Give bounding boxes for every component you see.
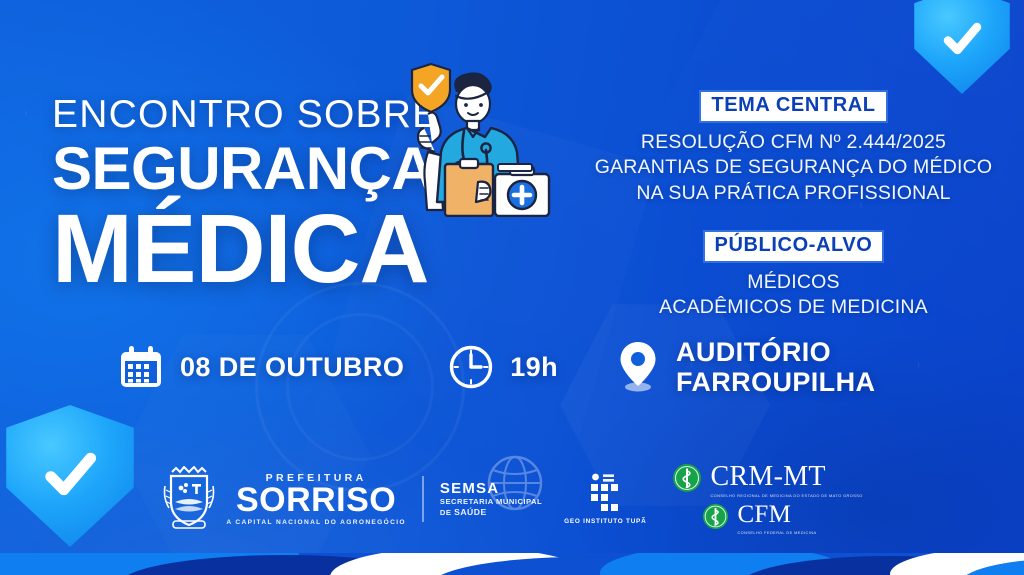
calendar-icon (118, 344, 164, 390)
theme-block: TEMA CENTRAL RESOLUÇÃO CFM Nº 2.444/2025… (591, 92, 996, 206)
event-date-label: 08 DE OUTUBRO (180, 352, 404, 382)
event-venue: AUDITÓRIO FARROUPILHA (616, 337, 875, 397)
crm-mt-name: CRM-MT (710, 463, 862, 490)
doctor-illustration (398, 52, 563, 217)
event-date: 08 DE OUTUBRO (118, 344, 404, 390)
orange-shield-icon (412, 64, 450, 112)
info-column: TEMA CENTRAL RESOLUÇÃO CFM Nº 2.444/2025… (591, 92, 996, 321)
audience-line: MÉDICOS (591, 270, 996, 296)
theme-line: GARANTIAS DE SEGURANÇA DO MÉDICO (591, 155, 996, 181)
cfm-subtitle: CONSELHO FEDERAL DE MEDICINA (737, 530, 816, 535)
headline-line-1: ENCONTRO SOBRE (52, 95, 439, 134)
tupa-caption: GEO INSTITUTO TUPÃ (564, 518, 646, 525)
audience-block: PÚBLICO-ALVO MÉDICOS ACADÊMICOS DE MEDIC… (591, 232, 996, 321)
audience-line: ACADÊMICOS DE MEDICINA (591, 295, 996, 321)
asclepius-staff-icon (672, 463, 702, 498)
logo-councils: CRM-MT CONSELHO REGIONAL DE MEDICINA DO … (672, 463, 862, 535)
crm-mt-subtitle: CONSELHO REGIONAL DE MEDICINA DO ESTADO … (710, 493, 862, 498)
location-pin-icon (616, 340, 660, 394)
prefeitura-wordmark: PREFEITURA SORRISO A CAPITAL NACIONAL DO… (226, 472, 406, 526)
event-time-label: 19h (510, 352, 558, 382)
logo-crm-mt: CRM-MT CONSELHO REGIONAL DE MEDICINA DO … (672, 463, 862, 498)
clock-icon (448, 344, 494, 390)
prefeitura-line-1: PREFEITURA (226, 472, 406, 484)
headline-line-2: SEGURANÇA (52, 138, 439, 199)
logo-cfm: CFM CONSELHO FEDERAL DE MEDICINA (702, 503, 862, 535)
event-details-row: 08 DE OUTUBRO 19h (118, 337, 875, 397)
audience-chip: PÚBLICO-ALVO (705, 232, 883, 261)
cfm-name: CFM (737, 503, 816, 528)
pixel-grid-it-icon (585, 473, 625, 515)
headline-line-3: MÉDICA (52, 201, 439, 296)
coat-of-arms-icon (161, 466, 217, 532)
theme-line: NA SUA PRÁTICA PROFISSIONAL (591, 181, 996, 207)
prefeitura-line-3: A CAPITAL NACIONAL DO AGRONEGÓCIO (226, 519, 406, 526)
shield-check-icon-top-right (914, 0, 1010, 94)
semsa-line-2: SECRETARIA MUNICIPAL (440, 498, 542, 507)
event-banner: ENCONTRO SOBRE SEGURANÇA MÉDICA (0, 0, 1024, 575)
logo-prefeitura-sorriso: PREFEITURA SORRISO A CAPITAL NACIONAL DO… (161, 466, 406, 532)
venue-line-1: AUDITÓRIO (676, 337, 875, 367)
footer-logos: PREFEITURA SORRISO A CAPITAL NACIONAL DO… (0, 463, 1024, 535)
theme-lines: RESOLUÇÃO CFM Nº 2.444/2025 GARANTIAS DE… (591, 130, 996, 207)
theme-chip: TEMA CENTRAL (701, 92, 885, 121)
prefeitura-line-2: SORRISO (226, 485, 406, 517)
hexagon-outline (200, 0, 350, 58)
logo-divider (422, 476, 424, 522)
check-glyph (935, 13, 989, 67)
venue-line-2: FARROUPILHA (676, 367, 875, 397)
headline-block: ENCONTRO SOBRE SEGURANÇA MÉDICA (52, 95, 439, 296)
bottom-wave-strip (0, 553, 1024, 575)
semsa-line-3: DE SAÚDE (440, 507, 542, 518)
theme-line: RESOLUÇÃO CFM Nº 2.444/2025 (591, 130, 996, 156)
logo-semsa: SEMSA SECRETARIA MUNICIPAL DE SAÚDE (440, 480, 542, 518)
asclepius-staff-icon (702, 503, 729, 535)
audience-lines: MÉDICOS ACADÊMICOS DE MEDICINA (591, 270, 996, 321)
event-time: 19h (448, 344, 558, 390)
event-venue-label: AUDITÓRIO FARROUPILHA (676, 337, 875, 397)
logo-instituto-tupa: GEO INSTITUTO TUPÃ (564, 473, 646, 525)
